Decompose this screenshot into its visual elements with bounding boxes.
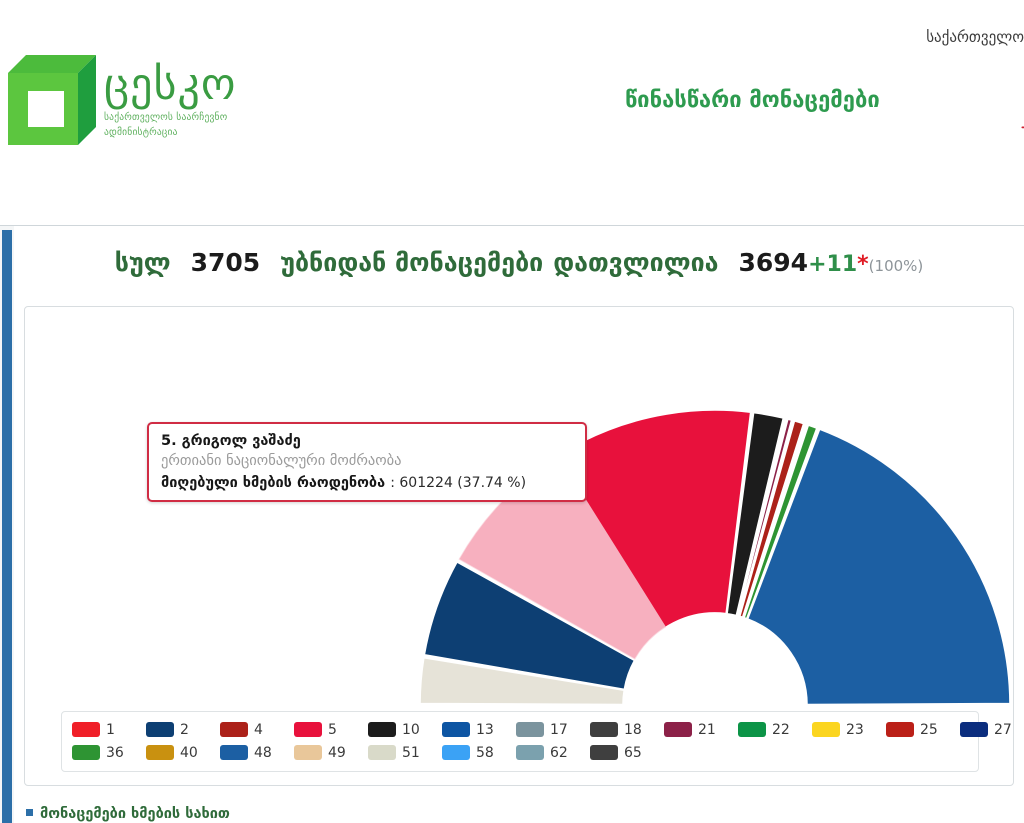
legend-label: 10 [402,722,420,738]
header-links: ➜მე ➜ [1021,118,1024,166]
tooltip-candidate-name: 5. გრიგოლ ვაშაძე [161,431,573,451]
legend-label: 58 [476,745,494,761]
election-results-page: ცესკო საქართველოს საარჩევნო ადმინისტრაცი… [0,0,1024,823]
legend-swatch-icon [220,722,248,737]
summary-percent: (100%) [869,257,924,275]
logo-wordmark: ცესკო [104,61,237,109]
chart-card: 5. გრიგოლ ვაშაძე ერთიანი ნაციონალური მოძ… [24,306,1014,786]
legend-row: 3640484951586265 [72,741,970,764]
legend-label: 13 [476,722,494,738]
half-donut-chart[interactable] [25,307,1014,707]
legend-item-40[interactable]: 40 [146,745,220,761]
legend-item-62[interactable]: 62 [516,745,590,761]
legend-swatch-icon [146,722,174,737]
summary-plus: +11 [808,252,857,277]
legend-label: 4 [254,722,263,738]
legend-label: 5 [328,722,337,738]
legend-swatch-icon [886,722,914,737]
legend-swatch-icon [960,722,988,737]
legend-swatch-icon [738,722,766,737]
legend-swatch-icon [516,722,544,737]
bullet-icon [26,809,33,816]
legend-swatch-icon [516,745,544,760]
legend-label: 48 [254,745,272,761]
legend-item-21[interactable]: 21 [664,722,738,738]
legend-label: 21 [698,722,716,738]
footer-note[interactable]: მონაცემები ხმების სახით [26,806,230,822]
legend-swatch-icon [664,722,692,737]
legend-label: 49 [328,745,346,761]
tooltip-party-name: ერთიანი ნაციონალური მოძრაობა [161,451,573,472]
footer-note-label: მონაცემები ხმების სახით [40,806,230,822]
legend-item-4[interactable]: 4 [220,722,294,738]
tooltip-votes-value: : 601224 (37.74 %) [390,475,526,491]
arrow-right-icon: ➜ [1021,118,1024,136]
legend-item-10[interactable]: 10 [368,722,442,738]
legend-label: 27 [994,722,1012,738]
summary-counted-word: დათვლილია [553,248,718,277]
legend-item-17[interactable]: 17 [516,722,590,738]
legend-label: 17 [550,722,568,738]
legend-swatch-icon [220,745,248,760]
legend-item-25[interactable]: 25 [886,722,960,738]
legend-label: 36 [106,745,124,761]
legend-swatch-icon [368,745,396,760]
legend-label: 51 [402,745,420,761]
pie-chart-area[interactable] [25,307,1014,707]
legend-item-51[interactable]: 51 [368,745,442,761]
legend-swatch-icon [590,745,618,760]
cesko-logo-text: ცესკო საქართველოს საარჩევნო ადმინისტრაცი… [104,61,237,139]
legend-item-1[interactable]: 1 [72,722,146,738]
legend-swatch-icon [294,745,322,760]
country-label: საქართველო [926,28,1024,46]
logo-subtitle-line2: ადმინისტრაცია [104,127,237,139]
header-link-primary[interactable]: ➜მე [1021,118,1024,136]
legend-item-13[interactable]: 13 [442,722,516,738]
chart-tooltip: 5. გრიგოლ ვაშაძე ერთიანი ნაციონალური მოძ… [147,422,587,502]
legend-label: 23 [846,722,864,738]
legend-item-23[interactable]: 23 [812,722,886,738]
page-title: წინასწარი მონაცემები [625,88,880,113]
legend-item-2[interactable]: 2 [146,722,220,738]
cesko-logo-mark [8,55,96,147]
summary-total-word: სულ [115,248,171,277]
legend-label: 25 [920,722,938,738]
legend-swatch-icon [368,722,396,737]
logo-subtitle-line1: საქართველოს საარჩევნო [104,112,237,124]
summary-star: * [857,252,869,277]
cesko-logo[interactable]: ცესკო საქართველოს საარჩევნო ადმინისტრაცი… [8,55,308,160]
summary-precinct-word: უბნიდან მონაცემები [280,248,543,277]
legend-label: 65 [624,745,642,761]
legend-swatch-icon [590,722,618,737]
legend-label: 40 [180,745,198,761]
page-body: სულ3705უბნიდან მონაცემებიდათვლილია3694+1… [0,225,1024,823]
legend-row: 1245101317182122232527 [72,718,970,741]
legend-swatch-icon [442,745,470,760]
tooltip-votes-label: მიღებული ხმების რაოდენობა [161,475,385,491]
legend-item-58[interactable]: 58 [442,745,516,761]
legend-swatch-icon [294,722,322,737]
chart-legend[interactable]: 1245101317182122232527 3640484951586265 [61,711,979,772]
legend-label: 1 [106,722,115,738]
legend-item-5[interactable]: 5 [294,722,368,738]
left-accent-rail [2,230,12,823]
header-link-secondary[interactable]: ➜ [1021,142,1024,160]
legend-swatch-icon [812,722,840,737]
content-panel: სულ3705უბნიდან მონაცემებიდათვლილია3694+1… [14,226,1024,823]
legend-swatch-icon [72,745,100,760]
legend-swatch-icon [146,745,174,760]
legend-item-65[interactable]: 65 [590,745,664,761]
legend-label: 2 [180,722,189,738]
legend-swatch-icon [442,722,470,737]
legend-item-49[interactable]: 49 [294,745,368,761]
legend-item-18[interactable]: 18 [590,722,664,738]
legend-label: 18 [624,722,642,738]
legend-label: 22 [772,722,790,738]
summary-counted-count: 3694 [739,248,809,277]
legend-item-48[interactable]: 48 [220,745,294,761]
summary-total-count: 3705 [191,248,261,277]
legend-label: 62 [550,745,568,761]
summary-bar: სულ3705უბნიდან მონაცემებიდათვლილია3694+1… [14,248,1024,277]
legend-swatch-icon [72,722,100,737]
page-header: ცესკო საქართველოს საარჩევნო ადმინისტრაცი… [0,0,1024,225]
tooltip-votes-row: მიღებული ხმების რაოდენობა : 601224 (37.7… [161,472,573,491]
legend-item-36[interactable]: 36 [72,745,146,761]
legend-item-22[interactable]: 22 [738,722,812,738]
legend-item-27[interactable]: 27 [960,722,1014,738]
